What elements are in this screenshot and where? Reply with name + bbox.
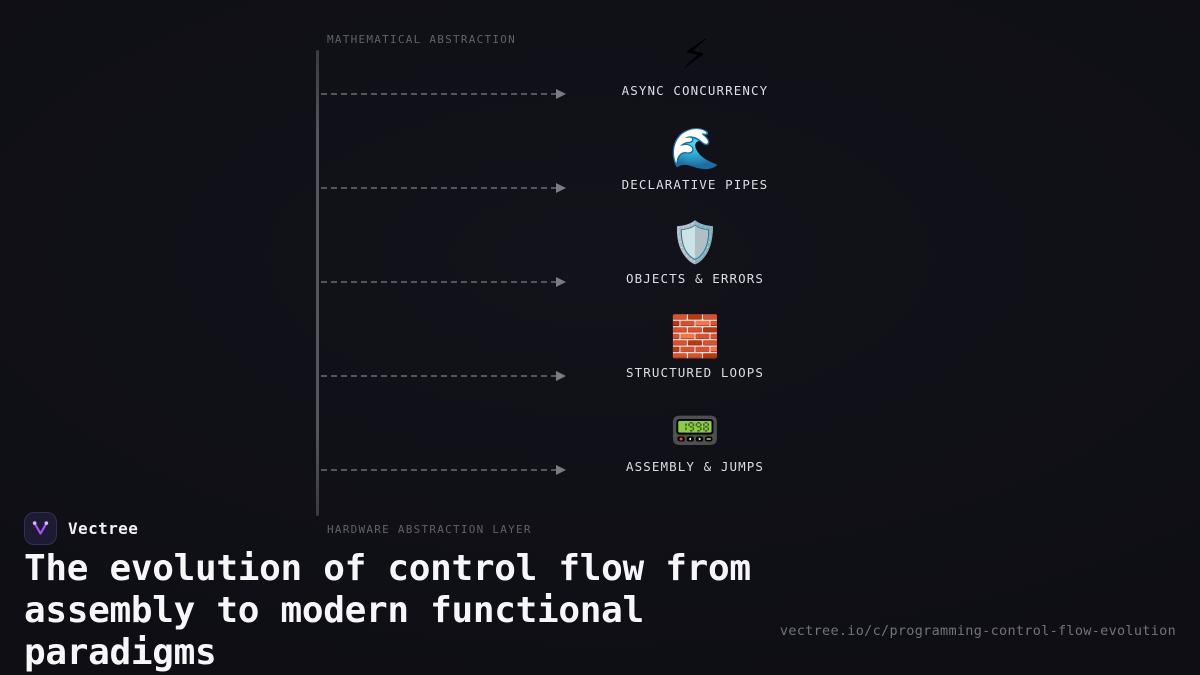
arrow-head-icon bbox=[556, 371, 566, 381]
page-title: The evolution of control flow from assem… bbox=[24, 548, 784, 673]
timeline-connector bbox=[321, 93, 557, 95]
milestone-label: STRUCTURED LOOPS bbox=[575, 365, 815, 380]
connector-line bbox=[321, 281, 557, 283]
milestone-label: ASYNC CONCURRENCY bbox=[575, 83, 815, 98]
lightning-bolt-icon: ⚡ bbox=[575, 32, 815, 78]
arrow-head-icon bbox=[556, 183, 566, 193]
milestone-item[interactable]: 🧱STRUCTURED LOOPS bbox=[575, 314, 815, 380]
water-wave-icon: 🌊 bbox=[575, 126, 815, 172]
timeline-connector bbox=[321, 281, 557, 283]
arrow-head-icon bbox=[556, 277, 566, 287]
connector-line bbox=[321, 93, 557, 95]
bottom-axis-label: HARDWARE ABSTRACTION LAYER bbox=[327, 523, 532, 536]
milestone-label: DECLARATIVE PIPES bbox=[575, 177, 815, 192]
source-url: vectree.io/c/programming-control-flow-ev… bbox=[780, 623, 1176, 639]
timeline-connector bbox=[321, 375, 557, 377]
brand: Vectree bbox=[24, 512, 138, 545]
connector-line bbox=[321, 187, 557, 189]
connector-line bbox=[321, 375, 557, 377]
milestone-item[interactable]: ⚡ASYNC CONCURRENCY bbox=[575, 32, 815, 98]
brick-wall-icon: 🧱 bbox=[575, 314, 815, 360]
vectree-logo-icon bbox=[24, 512, 57, 545]
milestone-item[interactable]: 📟ASSEMBLY & JUMPS bbox=[575, 408, 815, 474]
timeline-connector bbox=[321, 187, 557, 189]
infographic-canvas: MATHEMATICAL ABSTRACTION HARDWARE ABSTRA… bbox=[0, 0, 1200, 675]
pager-icon: 📟 bbox=[575, 408, 815, 454]
brand-name: Vectree bbox=[68, 519, 138, 538]
timeline-connector bbox=[321, 469, 557, 471]
arrow-head-icon bbox=[556, 89, 566, 99]
timeline-axis bbox=[316, 50, 319, 516]
connector-line bbox=[321, 469, 557, 471]
arrow-head-icon bbox=[556, 465, 566, 475]
top-axis-label: MATHEMATICAL ABSTRACTION bbox=[327, 33, 516, 46]
shield-icon: 🛡️ bbox=[575, 220, 815, 266]
milestone-label: ASSEMBLY & JUMPS bbox=[575, 459, 815, 474]
milestone-item[interactable]: 🛡️OBJECTS & ERRORS bbox=[575, 220, 815, 286]
milestone-label: OBJECTS & ERRORS bbox=[575, 271, 815, 286]
milestone-item[interactable]: 🌊DECLARATIVE PIPES bbox=[575, 126, 815, 192]
